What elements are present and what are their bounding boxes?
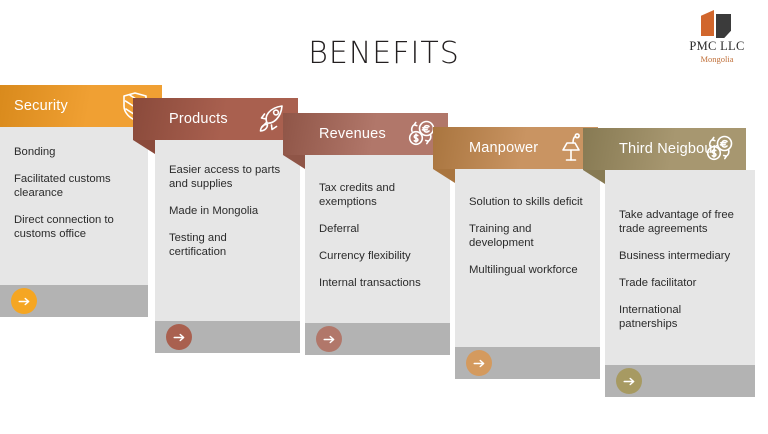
benefit-bullets-manpower: Solution to skills deficitTraining and d… [455, 195, 600, 290]
bullet-item: International patnerships [619, 303, 741, 331]
bullet-item: Currency flexibility [319, 249, 436, 263]
benefit-column-manpower: Solution to skills deficitTraining and d… [455, 157, 600, 379]
next-button-products[interactable] [166, 324, 192, 350]
arrow-right-icon [322, 332, 337, 347]
bullet-item: Made in Mongolia [169, 204, 286, 218]
benefit-column-revenues: Tax credits and exemptionsDeferralCurren… [305, 143, 450, 355]
benefit-header-label: Security [14, 98, 68, 114]
bullet-item: Bonding [14, 145, 134, 159]
next-button-security[interactable] [11, 288, 37, 314]
benefit-header-third-neigbour: Third Neigbour [583, 128, 746, 170]
arrow-right-icon [472, 356, 487, 371]
next-button-revenues[interactable] [316, 326, 342, 352]
next-button-third-neigbour[interactable] [616, 368, 642, 394]
benefit-bullets-third-neigbour: Take advantage of free trade agreementsB… [605, 208, 755, 344]
benefit-header-products: Products [133, 98, 298, 140]
logo-mark-icon [697, 8, 737, 38]
bullet-item: Direct connection to customs office [14, 213, 134, 241]
bullet-item: Facilitated customs clearance [14, 172, 134, 200]
benefit-header-label: Manpower [469, 140, 538, 156]
bullet-item: Multilingual workforce [469, 263, 586, 277]
arrow-right-icon [622, 374, 637, 389]
bullet-item: Business intermediary [619, 249, 741, 263]
benefit-column-products: Easier access to parts and suppliesMade … [155, 125, 300, 353]
bullet-item: Tax credits and exemptions [319, 181, 436, 209]
benefit-header-revenues: Revenues [283, 113, 448, 155]
benefit-header-label: Products [169, 111, 228, 127]
bullet-item: Testing and certification [169, 231, 286, 259]
slide-canvas: PMC LLC Mongolia BENEFITS BondingFacilit… [0, 0, 768, 434]
benefit-bullets-products: Easier access to parts and suppliesMade … [155, 163, 300, 272]
bullet-item: Trade facilitator [619, 276, 741, 290]
bullet-item: Easier access to parts and supplies [169, 163, 286, 191]
currency-exchange-icon [702, 132, 736, 166]
benefit-header-manpower: Manpower [433, 127, 598, 169]
benefit-bullets-security: BondingFacilitated customs clearanceDire… [0, 145, 148, 254]
benefit-footer-security [0, 285, 148, 317]
benefit-footer-manpower [455, 347, 600, 379]
page-title: BENEFITS [0, 36, 768, 71]
bullet-item: Training and development [469, 222, 586, 250]
arrow-right-icon [172, 330, 187, 345]
arrow-right-icon [17, 294, 32, 309]
benefit-footer-revenues [305, 323, 450, 355]
currency-exchange-icon [702, 132, 736, 166]
benefit-footer-products [155, 321, 300, 353]
benefit-footer-third-neigbour [605, 365, 755, 397]
bullet-item: Deferral [319, 222, 436, 236]
bullet-item: Internal transactions [319, 276, 436, 290]
benefit-bullets-revenues: Tax credits and exemptionsDeferralCurren… [305, 181, 450, 303]
bullet-item: Solution to skills deficit [469, 195, 586, 209]
next-button-manpower[interactable] [466, 350, 492, 376]
logo-mark-right-shape [716, 14, 731, 38]
bullet-item: Take advantage of free trade agreements [619, 208, 741, 236]
benefit-column-third-neigbour: Take advantage of free trade agreementsB… [605, 170, 755, 397]
benefit-header-label: Revenues [319, 126, 386, 142]
logo-mark-left-shape [701, 10, 714, 36]
